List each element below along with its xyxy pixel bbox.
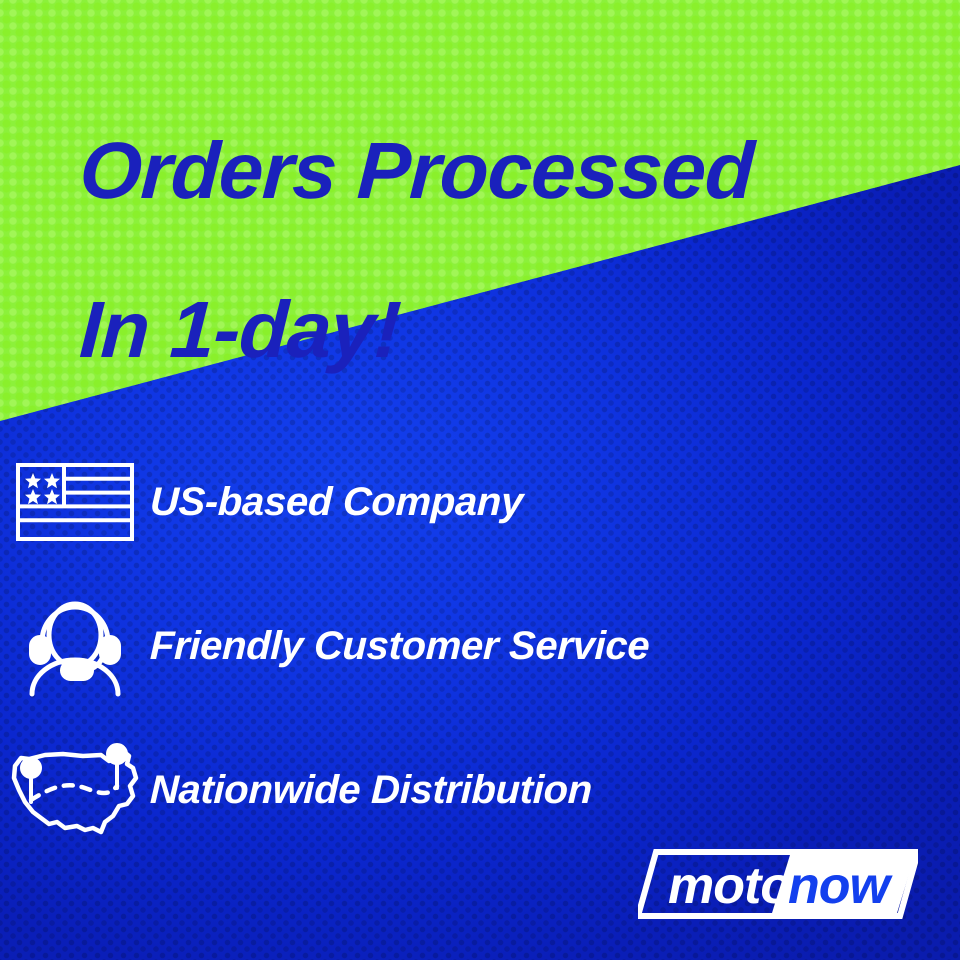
feature-list: US-based Company — [0, 430, 960, 862]
us-map-route-icon — [0, 742, 150, 838]
headline: Orders Processed In 1-day! — [78, 58, 938, 442]
headline-line-1: Orders Processed — [78, 133, 942, 208]
feature-row: US-based Company — [0, 430, 960, 574]
feature-label: US-based Company — [149, 480, 524, 525]
us-flag-icon — [0, 463, 150, 541]
feature-row: Friendly Customer Service — [0, 574, 960, 718]
feature-row: Nationwide Distribution — [0, 718, 960, 862]
svg-text:now: now — [788, 857, 894, 915]
feature-label: Friendly Customer Service — [149, 624, 650, 669]
headset-support-icon — [0, 594, 150, 698]
headline-line-2: In 1-day! — [78, 292, 942, 367]
feature-label: Nationwide Distribution — [149, 768, 593, 813]
promo-banner: Orders Processed In 1-day! — [0, 0, 960, 960]
motonow-logo[interactable]: moto now — [638, 846, 918, 922]
svg-text:moto: moto — [668, 857, 791, 915]
